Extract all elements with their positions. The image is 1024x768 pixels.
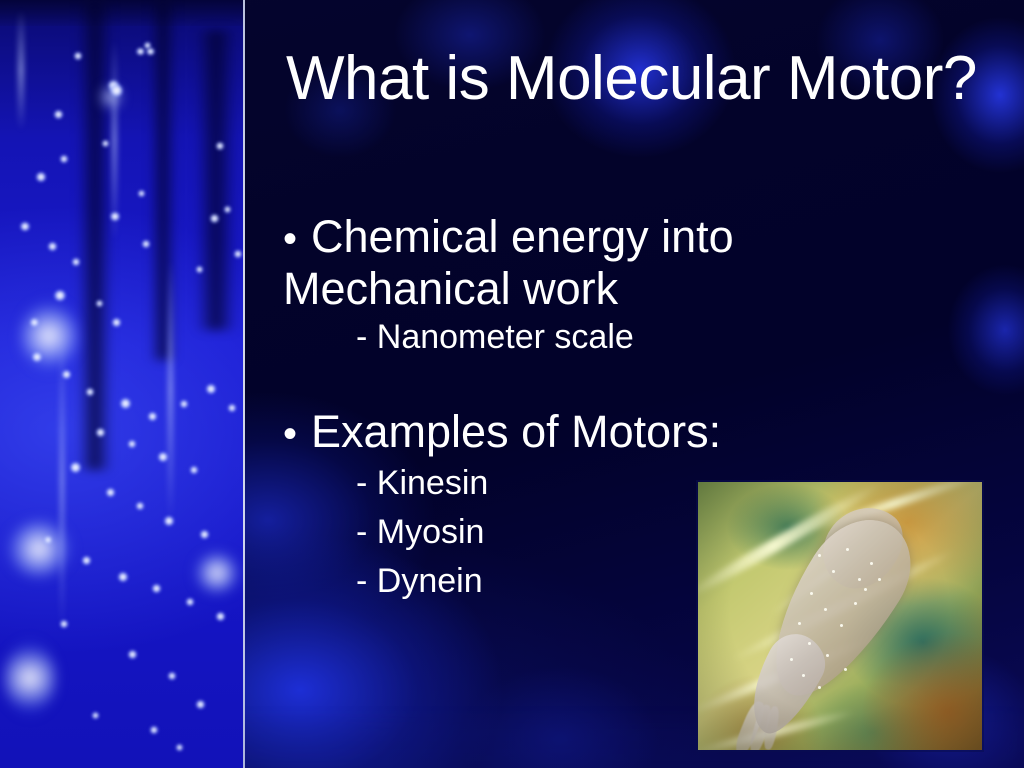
left-panel-glow (4, 640, 56, 716)
left-panel-speck (152, 584, 161, 593)
left-panel-speck (54, 290, 66, 301)
left-panel-speck (128, 650, 137, 659)
bullet-item: •Chemical energy into (283, 212, 843, 264)
left-panel-speck (112, 318, 121, 327)
left-panel-glow (6, 520, 72, 578)
left-panel-speck (128, 440, 136, 448)
left-panel-speck (210, 214, 219, 223)
left-panel-streak (168, 260, 173, 520)
left-panel-speck (62, 370, 71, 379)
panel-divider (243, 0, 245, 768)
left-panel-speck (96, 428, 105, 437)
left-panel-speck (54, 110, 63, 119)
left-panel-speck (20, 222, 30, 231)
left-panel-speck (142, 240, 150, 248)
left-panel-speck (36, 172, 46, 182)
left-panel-speck (120, 398, 131, 409)
left-panel-speck (96, 300, 103, 307)
left-panel-speck (74, 52, 82, 60)
left-panel-speck (60, 620, 68, 628)
slide: What is Molecular Motor? •Chemical energ… (0, 0, 1024, 768)
left-panel-speck (190, 466, 198, 474)
left-panel-speck (200, 530, 209, 539)
left-panel-speck (138, 190, 145, 197)
left-panel-glow (20, 300, 78, 372)
left-panel-dark-column (196, 30, 236, 330)
left-panel-speck (216, 612, 225, 621)
slide-title: What is Molecular Motor? (286, 46, 996, 111)
bullet-marker-icon: • (283, 215, 311, 264)
bullet-text-continuation: Mechanical work (283, 264, 843, 313)
bullet-marker-icon: • (283, 410, 311, 459)
left-panel-speck (110, 212, 120, 221)
left-panel-glow (194, 552, 240, 594)
left-panel-speck (168, 672, 176, 680)
left-panel-speck (196, 700, 205, 709)
left-panel-speck (206, 384, 216, 394)
left-panel-speck (164, 516, 174, 526)
left-panel-top-shadow (0, 0, 243, 26)
left-panel-speck (110, 84, 123, 97)
bullet-text: Chemical energy into (311, 211, 734, 262)
left-panel-speck (136, 502, 144, 510)
left-panel-speck (196, 266, 203, 273)
left-panel-speck (102, 140, 109, 147)
left-panel-speck (106, 488, 115, 497)
left-panel-speck (148, 412, 157, 421)
left-panel-speck (118, 572, 128, 582)
left-panel-speck (86, 388, 94, 396)
left-panel-speck (48, 242, 57, 251)
left-panel-streak (18, 10, 24, 130)
bullet-text: Examples of Motors: (311, 406, 721, 457)
left-panel-speck (70, 462, 81, 473)
left-panel-speck (228, 404, 236, 412)
left-panel-speck (180, 400, 188, 408)
left-panel-streak (112, 40, 117, 240)
left-panel-speck (150, 726, 158, 734)
left-panel-speck (32, 352, 42, 362)
bullet-group-spacer (283, 362, 843, 407)
left-panel-speck (216, 142, 224, 150)
left-panel-speck (60, 155, 68, 163)
left-panel-speck (72, 258, 80, 266)
left-panel-speck (158, 452, 168, 462)
left-panel-speck (146, 48, 155, 55)
sub-bullet-item: - Nanometer scale (283, 313, 843, 362)
left-panel-speck (176, 744, 183, 751)
bullet-item: •Examples of Motors: (283, 407, 843, 459)
left-panel-speck (234, 250, 242, 258)
squid-photo-frame (698, 482, 982, 750)
left-panel-speck (82, 556, 91, 565)
left-panel-speck (136, 48, 145, 55)
left-panel-speck (224, 206, 231, 213)
left-panel-speck (186, 598, 194, 606)
left-panel-speck (44, 536, 52, 544)
left-panel-image (0, 0, 243, 768)
left-panel-speck (92, 712, 99, 719)
left-panel-dark-column (78, 0, 112, 470)
left-panel-speck (30, 318, 39, 327)
